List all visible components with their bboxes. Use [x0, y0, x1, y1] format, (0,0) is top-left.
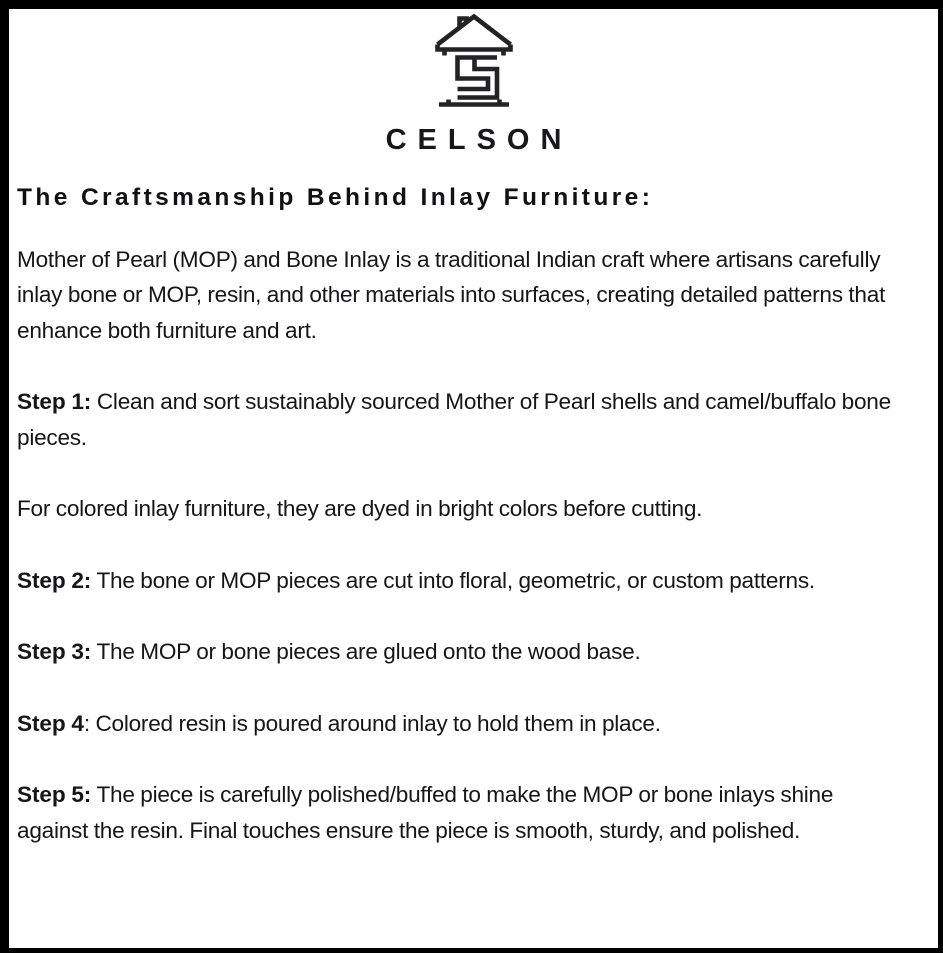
paragraph-lead: Step 2:	[17, 568, 91, 593]
brand-block: CELSON	[9, 9, 938, 155]
paragraph-step-2: Step 2: The bone or MOP pieces are cut i…	[17, 563, 898, 599]
paragraph-note-dye: For colored inlay furniture, they are dy…	[17, 491, 898, 527]
brand-wordmark: CELSON	[9, 126, 938, 155]
paragraph-intro: Mother of Pearl (MOP) and Bone Inlay is …	[17, 242, 898, 349]
border-top	[0, 0, 943, 9]
poster-page: CELSON The Craftsmanship Behind Inlay Fu…	[0, 0, 943, 953]
paragraph-text: For colored inlay furniture, they are dy…	[17, 496, 702, 521]
paragraph-lead: Step 5:	[17, 782, 91, 807]
paragraph-lead: Step 1:	[17, 389, 91, 414]
paragraph-text: : Colored resin is poured around inlay t…	[84, 711, 661, 736]
paragraph-lead: Step 4	[17, 711, 84, 736]
paragraph-step-4: Step 4: Colored resin is poured around i…	[17, 706, 898, 742]
article-body: Mother of Pearl (MOP) and Bone Inlay is …	[9, 242, 938, 849]
paragraph-step-1: Step 1: Clean and sort sustainably sourc…	[17, 384, 898, 455]
paragraph-lead: Step 3:	[17, 639, 91, 664]
poster-content: CELSON The Craftsmanship Behind Inlay Fu…	[9, 9, 938, 948]
paragraph-step-5: Step 5: The piece is carefully polished/…	[17, 777, 898, 848]
page-title: The Craftsmanship Behind Inlay Furniture…	[9, 155, 938, 212]
paragraph-text: The piece is carefully polished/buffed t…	[17, 782, 833, 843]
paragraph-text: The MOP or bone pieces are glued onto th…	[91, 639, 640, 664]
house-monogram-icon	[435, 13, 513, 110]
paragraph-step-3: Step 3: The MOP or bone pieces are glued…	[17, 634, 898, 670]
paragraph-text: Clean and sort sustainably sourced Mothe…	[17, 389, 891, 450]
paragraph-text: The bone or MOP pieces are cut into flor…	[91, 568, 815, 593]
border-left	[0, 0, 9, 953]
border-right	[938, 0, 943, 953]
border-bottom	[0, 948, 943, 953]
paragraph-text: Mother of Pearl (MOP) and Bone Inlay is …	[17, 247, 885, 343]
